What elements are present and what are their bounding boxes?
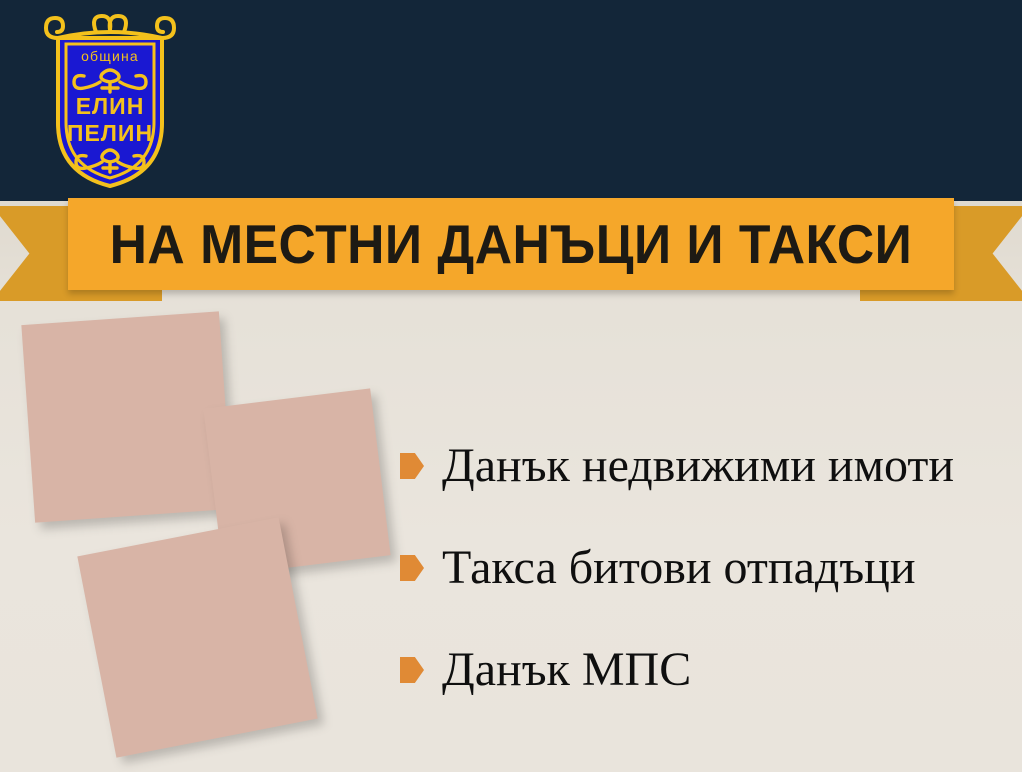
stamp-perforation bbox=[77, 517, 317, 757]
stamp-perforation bbox=[21, 311, 232, 522]
logo-text-obshtina: община bbox=[81, 48, 139, 64]
logo-text-pelin: ПЕЛИН bbox=[67, 120, 153, 146]
arrow-bullet-icon bbox=[400, 453, 424, 479]
logo-text-elin: ЕЛИН bbox=[76, 93, 145, 119]
stamp-house bbox=[21, 311, 232, 522]
tax-type-list: Данък недвижими имоти Такса битови отпад… bbox=[400, 415, 1010, 721]
stamp-car bbox=[77, 517, 317, 757]
list-item-label: Данък МПС bbox=[442, 646, 691, 694]
ribbon-label: НА МЕСТНИ ДАНЪЦИ И ТАКСИ bbox=[110, 217, 913, 272]
subtitle-ribbon: НА МЕСТНИ ДАНЪЦИ И ТАКСИ bbox=[0, 198, 1022, 308]
list-item-label: Такса битови отпадъци bbox=[442, 544, 916, 592]
arrow-bullet-icon bbox=[400, 555, 424, 581]
list-item[interactable]: Данък МПС bbox=[400, 619, 1010, 721]
list-item-label: Данък недвижими имоти bbox=[442, 442, 954, 490]
list-item[interactable]: Такса битови отпадъци bbox=[400, 517, 1010, 619]
ribbon-band: НА МЕСТНИ ДАНЪЦИ И ТАКСИ bbox=[68, 198, 954, 290]
municipality-logo: община ЕЛИН ПЕЛИН bbox=[40, 8, 180, 190]
list-item[interactable]: Данък недвижими имоти bbox=[400, 415, 1010, 517]
arrow-bullet-icon bbox=[400, 657, 424, 683]
